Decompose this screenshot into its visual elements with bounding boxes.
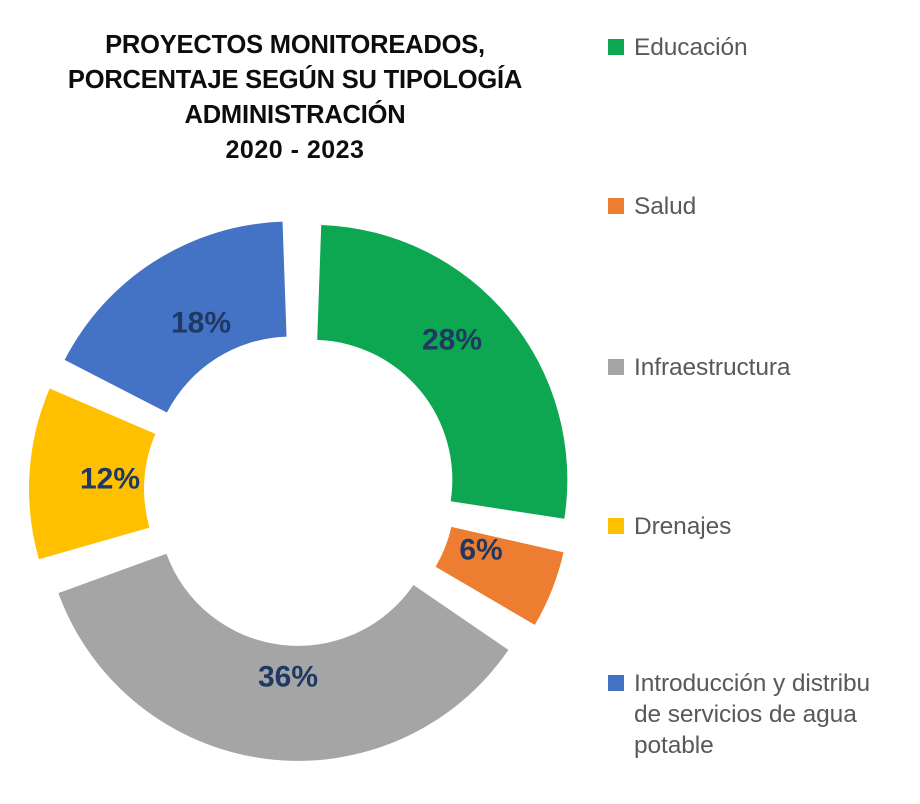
legend-label-infraestructura: Infraestructura	[634, 352, 790, 383]
legend-item-drenajes[interactable]: Drenajes	[608, 511, 920, 542]
legend-item-salud[interactable]: Salud	[608, 191, 920, 222]
legend-swatch-icon-agua-potable	[608, 675, 624, 691]
legend-swatch-icon-salud	[608, 198, 624, 214]
page-title: PROYECTOS MONITOREADOS, PORCENTAJE SEGÚN…	[0, 28, 590, 168]
legend-label-drenajes: Drenajes	[634, 511, 731, 542]
donut-chart-svg: 28% 6% 36% 12% 18%	[0, 200, 600, 804]
slice-label-agua: 18%	[171, 307, 231, 340]
chart-page: PROYECTOS MONITOREADOS, PORCENTAJE SEGÚN…	[0, 0, 920, 804]
slice-label-educacion: 28%	[422, 324, 482, 357]
donut-slice-educaci-n[interactable]	[317, 225, 567, 519]
slice-label-infraestructura: 36%	[258, 661, 318, 694]
chart-legend: Educación Salud Infraestructura Drenajes…	[608, 0, 920, 804]
slice-label-drenajes: 12%	[80, 463, 140, 496]
legend-item-agua-potable[interactable]: Introducción y distribu de servicios de …	[608, 668, 920, 761]
legend-item-infraestructura[interactable]: Infraestructura	[608, 352, 920, 383]
title-line-3: ADMINISTRACIÓN	[0, 98, 590, 133]
legend-label-agua-potable: Introducción y distribu de servicios de …	[634, 668, 870, 761]
title-line-1: PROYECTOS MONITOREADOS,	[0, 28, 590, 63]
donut-chart: 28% 6% 36% 12% 18%	[0, 200, 600, 804]
legend-swatch-icon-drenajes	[608, 518, 624, 534]
legend-item-educacion[interactable]: Educación	[608, 32, 920, 63]
title-line-2: PORCENTAJE SEGÚN SU TIPOLOGÍA	[0, 63, 590, 98]
title-line-period: 2020 - 2023	[0, 133, 590, 168]
legend-label-salud: Salud	[634, 191, 696, 222]
legend-swatch-icon-infraestructura	[608, 359, 624, 375]
donut-slice-infraestructura[interactable]	[58, 554, 508, 761]
slice-label-salud: 6%	[459, 534, 502, 567]
legend-label-educacion: Educación	[634, 32, 748, 63]
legend-swatch-icon-educacion	[608, 39, 624, 55]
